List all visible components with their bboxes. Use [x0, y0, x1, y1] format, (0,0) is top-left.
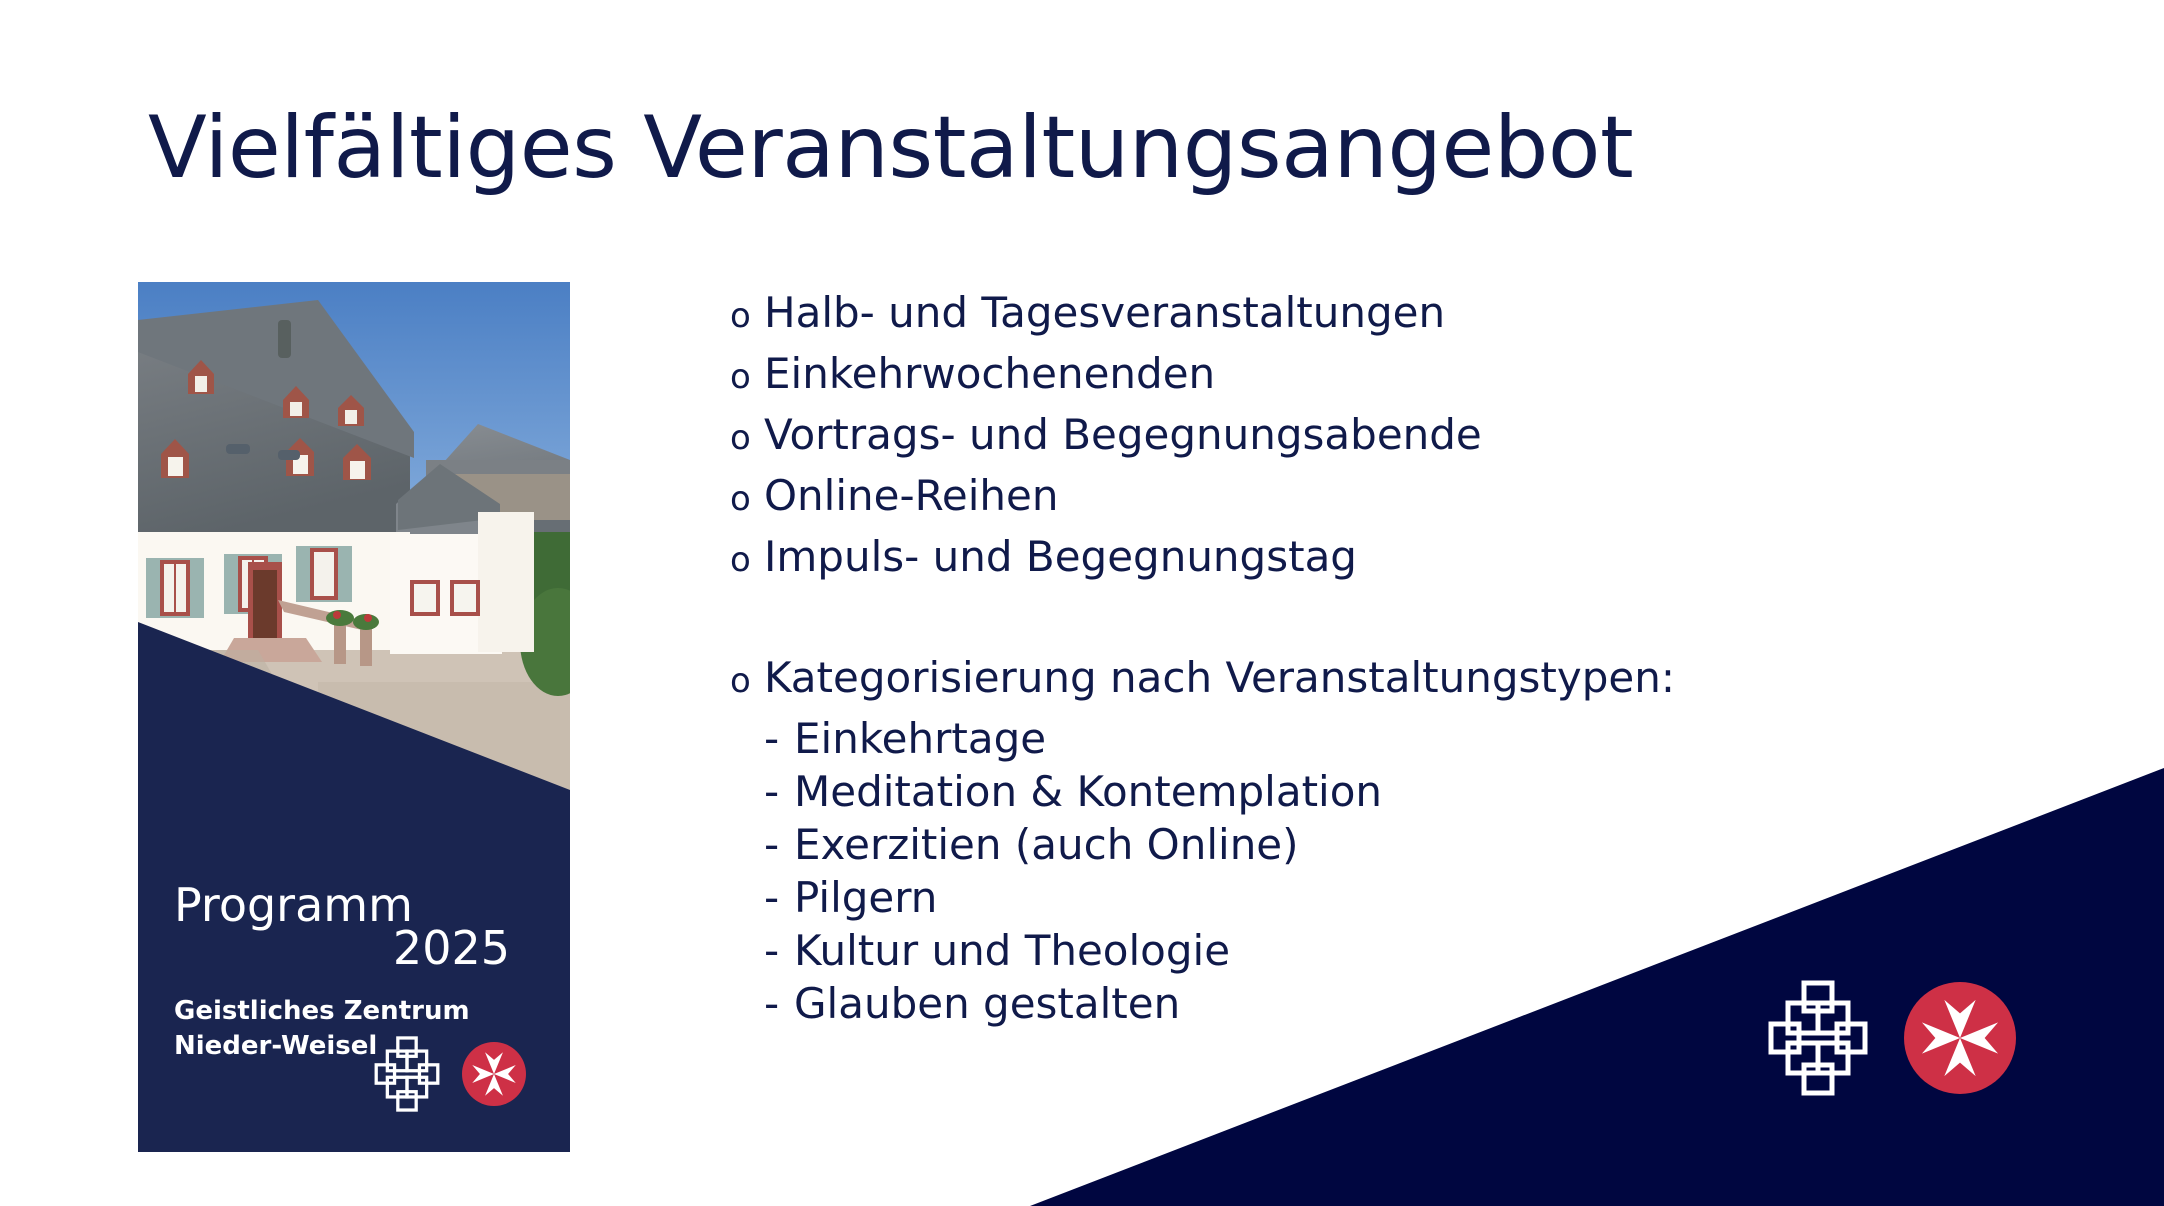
list-item: o Vortrags- und Begegnungsabende [730, 414, 1930, 456]
johanniter-kreuz-icon [374, 1036, 440, 1112]
list-item-label: Halb- und Tagesveranstaltungen [764, 292, 1445, 334]
list-item-category-heading: o Kategorisierung nach Veranstaltungstyp… [730, 657, 1930, 699]
list-item: o Impuls- und Begegnungstag [730, 536, 1930, 578]
brochure-org-line-1: Geistliches Zentrum [174, 994, 534, 1029]
bullet-marker-icon: o [730, 543, 764, 577]
brochure-logo-group [138, 1036, 570, 1112]
sub-list-item-label: Pilgern [794, 877, 937, 919]
building-photo [138, 282, 570, 842]
johanniter-kreuz-icon [1768, 980, 1868, 1096]
sub-list-item-label: Meditation & Kontemplation [794, 771, 1382, 813]
page-title: Vielfältiges Veranstaltungsangebot [148, 102, 2048, 195]
dash-marker-icon: - [764, 824, 794, 866]
brochure-cover-card: Programm 2025 Geistliches Zentrum Nieder… [138, 282, 570, 1152]
sub-list-item-label: Glauben gestalten [794, 983, 1180, 1025]
bullet-marker-icon: o [730, 360, 764, 394]
sub-list-item: - Einkehrtage [730, 718, 1930, 760]
sub-list-item-label: Exerzitien (auch Online) [794, 824, 1299, 866]
list-item: o Einkehrwochenenden [730, 353, 1930, 395]
list-item-label: Online-Reihen [764, 475, 1059, 517]
sub-list-item: - Pilgern [730, 877, 1930, 919]
bullet-marker-icon: o [730, 299, 764, 333]
presentation-slide: Vielfältiges Veranstaltungsangebot [0, 0, 2164, 1206]
bullet-content: o Halb- und Tagesveranstaltungen o Einke… [730, 292, 1930, 1036]
dash-marker-icon: - [764, 983, 794, 1025]
sub-list-item: - Meditation & Kontemplation [730, 771, 1930, 813]
dash-marker-icon: - [764, 930, 794, 972]
list-item-label: Vortrags- und Begegnungsabende [764, 414, 1482, 456]
sub-list-item-label: Kultur und Theologie [794, 930, 1230, 972]
sub-list-item: - Glauben gestalten [730, 983, 1930, 1025]
list-item: o Online-Reihen [730, 475, 1930, 517]
list-item-label: Einkehrwochenenden [764, 353, 1215, 395]
malteserkreuz-icon [462, 1042, 526, 1106]
sub-list-item: - Kultur und Theologie [730, 930, 1930, 972]
list-item-label: Kategorisierung nach Veranstaltungstypen… [764, 657, 1675, 699]
dash-marker-icon: - [764, 771, 794, 813]
list-group-spacer [730, 597, 1930, 657]
dash-marker-icon: - [764, 718, 794, 760]
sub-list-item-label: Einkehrtage [794, 718, 1046, 760]
corner-logo-group [1768, 980, 2016, 1096]
dash-marker-icon: - [764, 877, 794, 919]
list-item-label: Impuls- und Begegnungstag [764, 536, 1357, 578]
malteserkreuz-icon [1904, 982, 2016, 1094]
bullet-marker-icon: o [730, 664, 764, 698]
bullet-marker-icon: o [730, 421, 764, 455]
sub-list-item: - Exerzitien (auch Online) [730, 824, 1930, 866]
bullet-marker-icon: o [730, 482, 764, 516]
list-item: o Halb- und Tagesveranstaltungen [730, 292, 1930, 334]
